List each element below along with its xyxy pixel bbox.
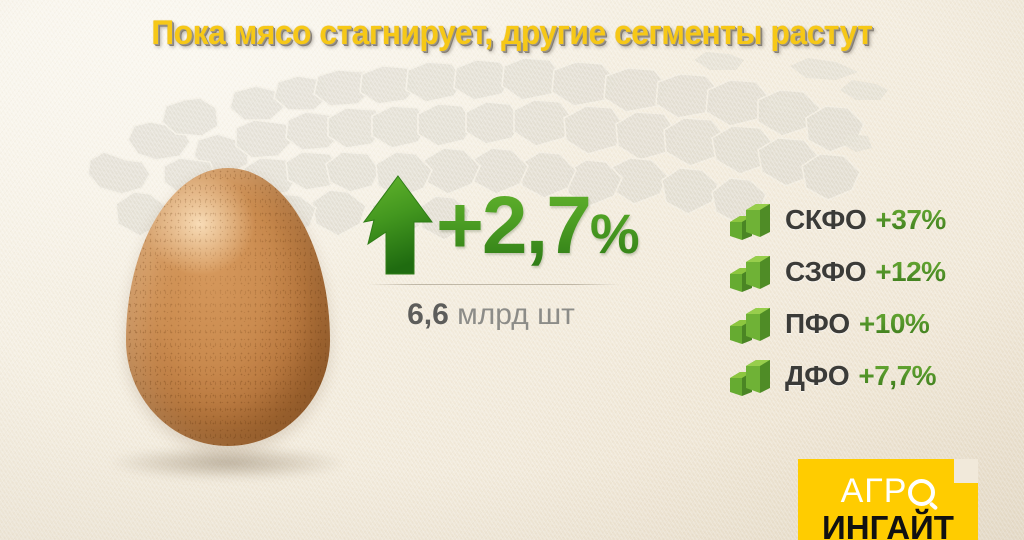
list-item: ПФО +10%	[728, 298, 998, 350]
bar-chart-icon	[728, 304, 774, 344]
main-stat-row: +2,7%	[362, 170, 632, 282]
region-name: СЗФО	[785, 258, 866, 286]
bar-chart-icon	[728, 356, 774, 396]
stat-sub-number: 6,6	[407, 298, 449, 331]
logo-bottom-text: ИНГАЙТ	[798, 511, 978, 540]
main-stat-subtext: 6,6 млрд шт	[362, 300, 620, 330]
list-item: СКФО +37%	[728, 194, 998, 246]
region-name: СКФО	[785, 206, 866, 234]
main-stat-block: +2,7% 6,6 млрд шт	[362, 170, 632, 330]
page-title: Пока мясо стагнирует, другие сегменты ра…	[36, 14, 988, 53]
region-value: +37%	[875, 206, 945, 234]
egg-speckles	[126, 168, 330, 446]
region-value: +10%	[859, 310, 929, 338]
logo-top-text: АГР	[798, 474, 978, 508]
egg-icon	[126, 168, 330, 446]
region-value: +7,7%	[858, 362, 936, 390]
bar-chart-icon	[728, 200, 774, 240]
bar-chart-icon	[728, 252, 774, 292]
region-name: ПФО	[785, 310, 850, 338]
magnifier-icon	[908, 479, 935, 506]
stat-divider	[368, 284, 620, 285]
list-item: ДФО +7,7%	[728, 350, 998, 402]
region-value: +12%	[875, 258, 945, 286]
region-name: ДФО	[785, 362, 849, 390]
agro-insight-logo[interactable]: АГР ИНГАЙТ	[798, 459, 978, 540]
main-stat-value: +2,7%	[436, 185, 639, 267]
list-item: СЗФО +12%	[728, 246, 998, 298]
egg-illustration	[96, 166, 362, 486]
arrow-up-icon	[362, 174, 434, 278]
stat-sub-unit: млрд шт	[457, 298, 575, 331]
egg-shadow	[110, 446, 346, 480]
regions-list: СКФО +37% СЗФО	[728, 194, 998, 402]
infographic-canvas: Пока мясо стагнирует, другие сегменты ра…	[0, 0, 1024, 540]
